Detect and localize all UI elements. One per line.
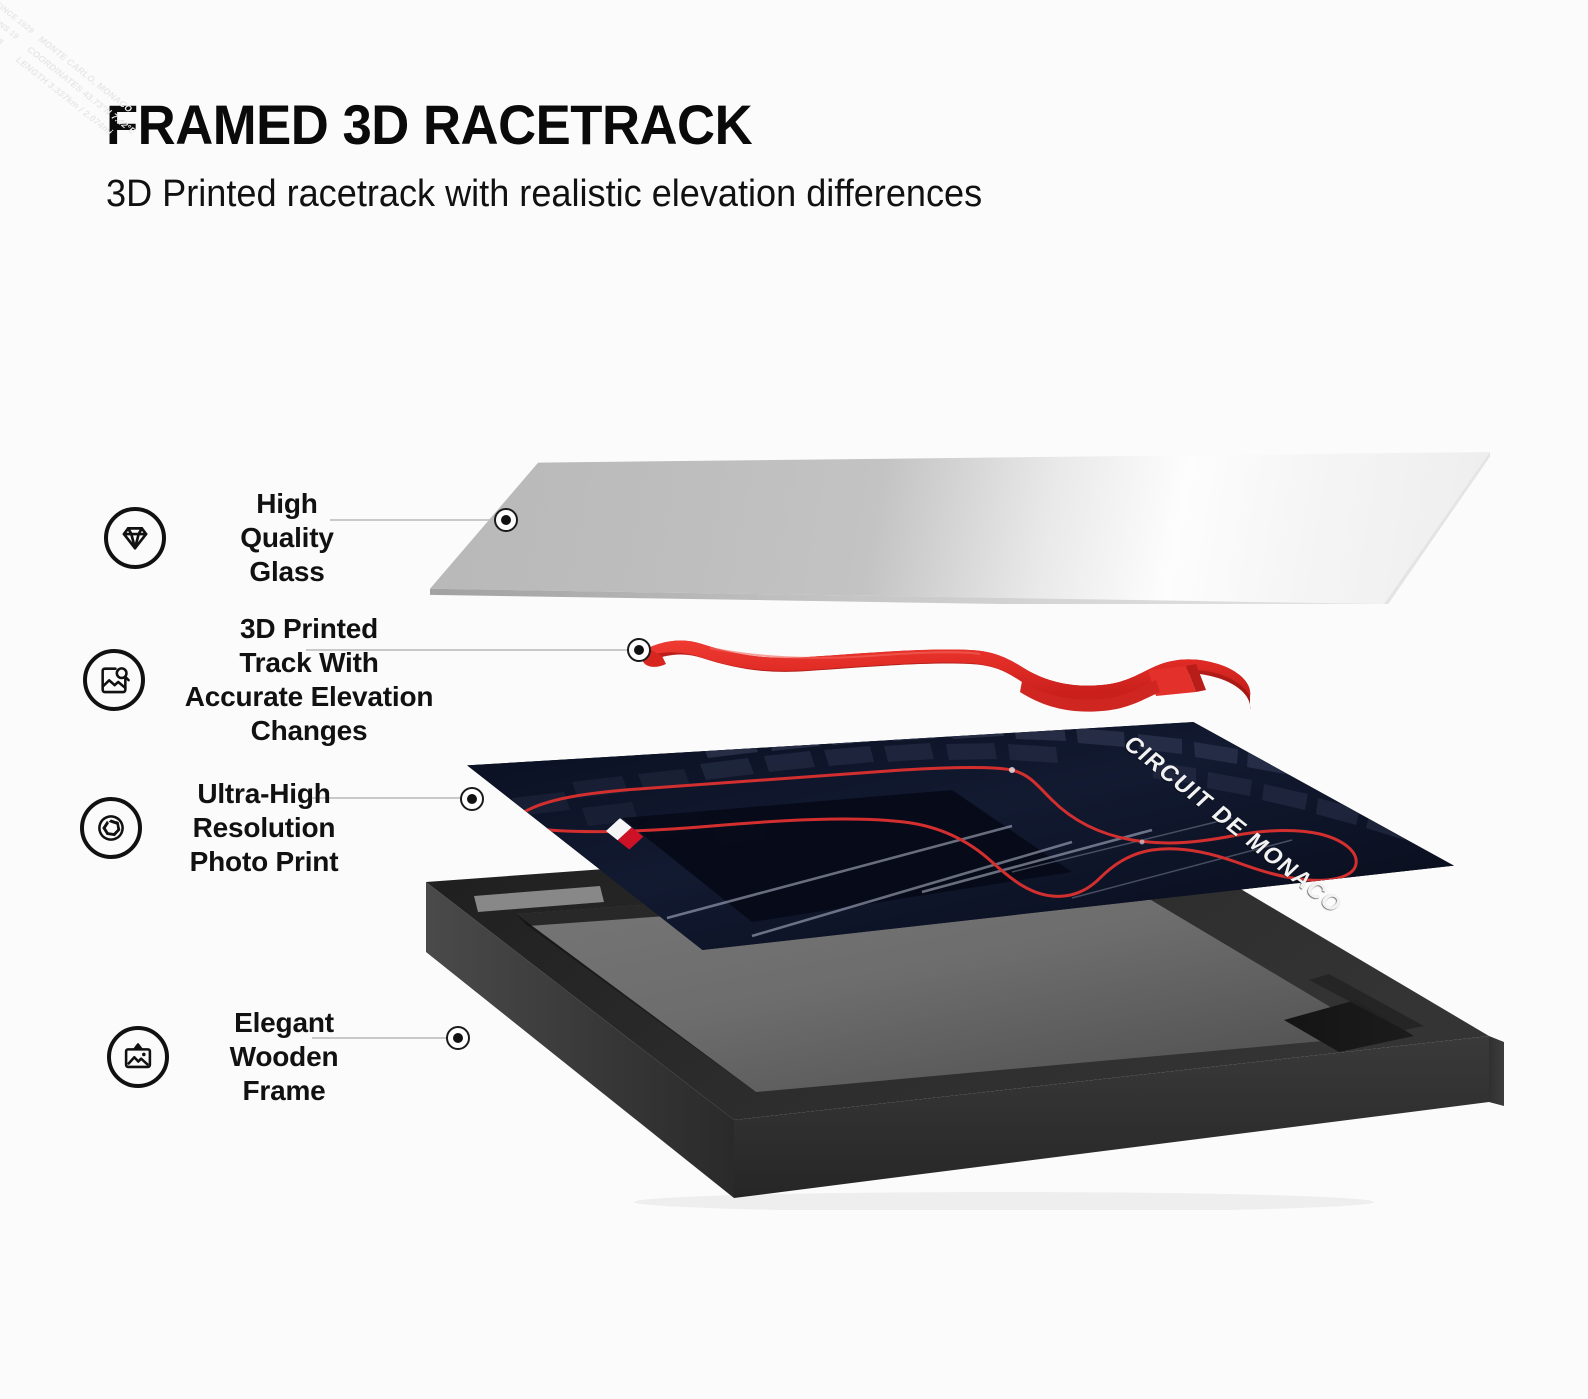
poster-stat: COORDINATES 43.73°N 7.42°E bbox=[25, 45, 139, 136]
aperture-icon bbox=[80, 797, 142, 859]
diamond-icon bbox=[104, 507, 166, 569]
feature-label-frame: Elegant Wooden Frame bbox=[191, 1006, 377, 1108]
poster-surface bbox=[452, 722, 1454, 950]
picture-frame-icon bbox=[107, 1026, 169, 1088]
callout-dot-glass[interactable] bbox=[494, 508, 518, 532]
callout-dot-photo[interactable] bbox=[460, 787, 484, 811]
feature-label-glass: High Quality Glass bbox=[212, 487, 362, 589]
glass-surface bbox=[430, 452, 1490, 604]
glass-pane-layer bbox=[430, 452, 1490, 604]
feature-label-track: 3D Printed Track With Accurate Elevation… bbox=[159, 612, 459, 749]
infographic-canvas: FRAMED 3D RACETRACK 3D Printed racetrack… bbox=[0, 0, 1588, 1399]
printed-track-layer bbox=[640, 626, 1260, 726]
image-search-icon bbox=[83, 649, 145, 711]
feature-high-quality-glass[interactable]: High Quality Glass bbox=[104, 487, 362, 589]
feature-wooden-frame[interactable]: Elegant Wooden Frame bbox=[107, 1006, 377, 1108]
callout-dot-frame[interactable] bbox=[446, 1026, 470, 1050]
feature-label-photo: Ultra-High Resolution Photo Print bbox=[164, 777, 364, 879]
feature-photo-print[interactable]: Ultra-High Resolution Photo Print bbox=[80, 777, 364, 879]
poster-stats-col-b: MONTE CARLO, MONACO COORDINATES 43.73°N … bbox=[14, 35, 150, 147]
feature-3d-printed-track[interactable]: 3D Printed Track With Accurate Elevation… bbox=[83, 612, 459, 749]
callout-dot-track[interactable] bbox=[627, 638, 651, 662]
monaco-map-graphic bbox=[452, 722, 1454, 950]
photo-print-layer bbox=[452, 722, 1454, 950]
